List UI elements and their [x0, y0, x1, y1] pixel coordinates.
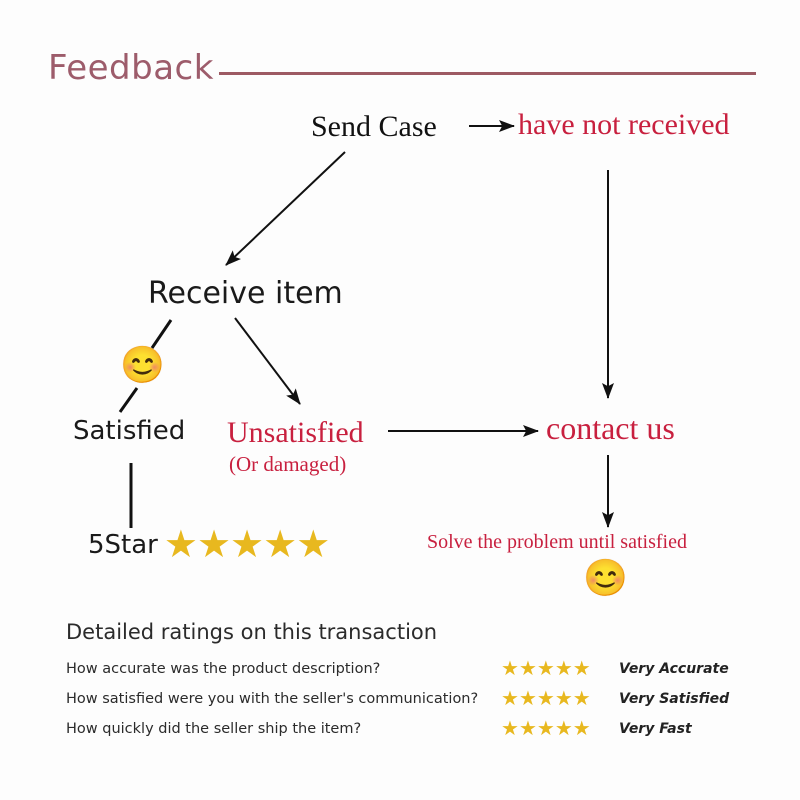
smiley-face-icon: 😊	[120, 347, 165, 383]
node-receive-item: Receive item	[148, 276, 343, 311]
star-icon: ★	[197, 526, 230, 564]
star-icon: ★	[296, 526, 329, 564]
star-icon: ★	[537, 659, 555, 679]
rating-question: How satisfied were you with the seller's…	[66, 691, 501, 707]
node-have-not-received: have not received	[518, 108, 730, 142]
node-or-damaged: (Or damaged)	[229, 452, 346, 477]
star-icon: ★	[519, 659, 537, 679]
star-icon: ★	[555, 659, 573, 679]
star-icon: ★	[573, 659, 591, 679]
star-icon: ★	[573, 719, 591, 739]
star-icon: ★	[573, 689, 591, 709]
node-contact-us: contact us	[546, 410, 675, 447]
rating-value: Very Accurate	[619, 661, 729, 677]
star-icon: ★	[501, 719, 519, 739]
star-icon: ★	[555, 689, 573, 709]
arrow-sendcase-to-receive	[226, 152, 345, 265]
feedback-infographic: Feedback Send Case have not received Rec…	[0, 0, 800, 800]
smiley-face-icon: 😊	[583, 560, 628, 596]
arrow-receive-to-unsatisfied	[235, 318, 300, 404]
rating-row: How quickly did the seller ship the item…	[66, 714, 766, 744]
rating-row: How satisfied were you with the seller's…	[66, 684, 766, 714]
page-title: Feedback	[48, 48, 214, 88]
rating-stars: ★★★★★	[501, 659, 619, 680]
star-icon: ★	[555, 719, 573, 739]
node-solve-until-satisfied: Solve the problem until satisfied	[427, 531, 687, 554]
star-icon: ★	[537, 689, 555, 709]
rating-stars: ★★★★★	[501, 719, 619, 740]
node-satisfied: Satisfied	[73, 416, 185, 446]
star-icon: ★	[230, 526, 263, 564]
five-star-icons: ★★★★★	[164, 526, 329, 564]
star-icon: ★	[501, 659, 519, 679]
detailed-ratings-title: Detailed ratings on this transaction	[66, 620, 437, 644]
star-icon: ★	[164, 526, 197, 564]
header-divider	[219, 72, 756, 75]
five-star-row: 5Star ★★★★★	[88, 526, 329, 564]
rating-value: Very Satisfied	[619, 691, 729, 707]
star-icon: ★	[537, 719, 555, 739]
star-icon: ★	[519, 689, 537, 709]
star-icon: ★	[519, 719, 537, 739]
rating-value: Very Fast	[619, 721, 692, 737]
five-star-label: 5Star	[88, 530, 158, 560]
rating-stars: ★★★★★	[501, 689, 619, 710]
rating-row: How accurate was the product description…	[66, 654, 766, 684]
rating-question: How accurate was the product description…	[66, 661, 501, 677]
node-unsatisfied: Unsatisfied	[227, 416, 364, 450]
star-icon: ★	[263, 526, 296, 564]
star-icon: ★	[501, 689, 519, 709]
line-emoji-to-satisfied	[120, 388, 137, 412]
detailed-ratings-list: How accurate was the product description…	[66, 654, 766, 744]
node-send-case: Send Case	[311, 110, 437, 144]
rating-question: How quickly did the seller ship the item…	[66, 721, 501, 737]
